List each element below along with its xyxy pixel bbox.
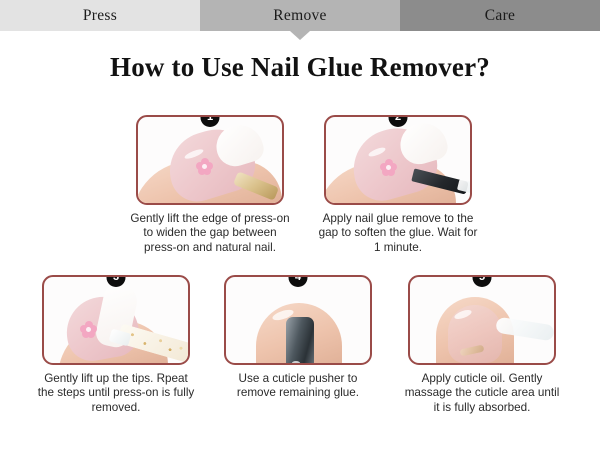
step-caption-5: Apply cuticle oil. Gently massage the cu… bbox=[402, 372, 562, 415]
illustration-press-on-lift bbox=[138, 117, 282, 203]
steps-container: 1 Gently lift the edge of press-on to wi… bbox=[0, 0, 600, 450]
illustration-cuticle-oil bbox=[410, 277, 554, 363]
step-image-2: 2 bbox=[324, 115, 472, 205]
illustration-apply-remover bbox=[326, 117, 470, 203]
step-image-3: 3 bbox=[42, 275, 190, 365]
step-card-5: 5 Apply cuticle oil. Gently massage the … bbox=[408, 275, 556, 415]
step-card-2: 2 Apply nail glue remove to the gap to s… bbox=[324, 115, 472, 255]
step-image-1: 1 bbox=[136, 115, 284, 205]
step-image-5: 5 bbox=[408, 275, 556, 365]
illustration-cuticle-pusher bbox=[226, 277, 370, 363]
step-card-4: 4 Use a cuticle pusher to remove remaini… bbox=[224, 275, 372, 401]
step-caption-3: Gently lift up the tips. Rpeat the steps… bbox=[36, 372, 196, 415]
step-caption-4: Use a cuticle pusher to remove remaining… bbox=[218, 372, 378, 401]
step-caption-2: Apply nail glue remove to the gap to sof… bbox=[318, 212, 478, 255]
step-caption-1: Gently lift the edge of press-on to wide… bbox=[130, 212, 290, 255]
step-image-4: 4 bbox=[224, 275, 372, 365]
illustration-lift-tips bbox=[44, 277, 188, 363]
step-card-1: 1 Gently lift the edge of press-on to wi… bbox=[136, 115, 284, 255]
step-card-3: 3 Gently lift up the tips. Rpeat the ste… bbox=[42, 275, 190, 415]
